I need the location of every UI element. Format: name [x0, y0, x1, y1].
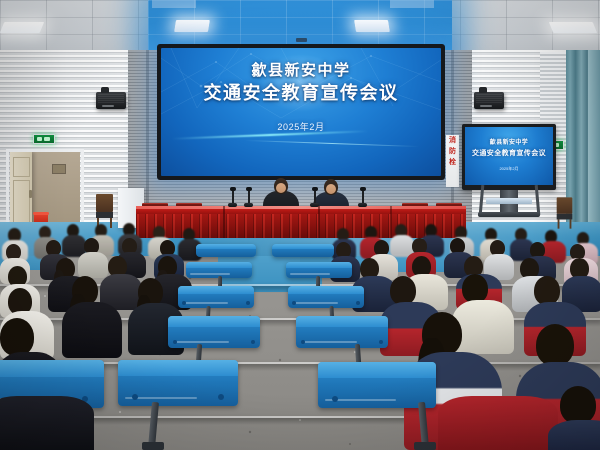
banner-char-1: 消: [446, 135, 459, 146]
student-desk: [178, 286, 254, 308]
desk-lip: [183, 302, 229, 304]
side-tv-line1: 歙县新安中学: [490, 137, 528, 146]
desk-bolt: [356, 301, 360, 305]
table-seam: [223, 206, 225, 238]
student-head: [534, 276, 560, 305]
ceiling-panel-light: [354, 20, 390, 32]
student-body: [0, 396, 94, 450]
student-head: [536, 324, 574, 366]
chair-leg: [570, 219, 572, 228]
led-title-line2: 交通安全教育宣传会议: [204, 83, 399, 105]
desk-bolt: [132, 394, 138, 400]
speaker-face: [276, 183, 286, 193]
speaker-head: [324, 179, 338, 195]
desk-bolt: [292, 301, 296, 305]
student-body: [78, 252, 108, 278]
chair-back: [96, 194, 113, 212]
side-tv-text-block: 歙县新安中学 交通安全教育宣传会议 2025年2月: [465, 127, 553, 185]
desk-surface: [118, 360, 238, 376]
led-date: 2025年2月: [277, 120, 324, 133]
desk-lip: [290, 273, 330, 275]
table-seam: [318, 206, 320, 238]
speaker-mesh: [98, 94, 124, 104]
ceiling-light-reflection-left: [152, 0, 196, 8]
microphone-base: [244, 203, 253, 207]
student-body: [548, 420, 600, 450]
student-body: [62, 302, 122, 358]
student-desk: [296, 316, 388, 348]
desk-surface: [178, 286, 254, 294]
desk-bolt: [246, 301, 250, 305]
desk-lip: [174, 341, 229, 343]
banner-char-2: 防: [446, 146, 459, 157]
speaker-mesh: [476, 94, 502, 104]
led-text-block: 歙县新安中学 交通安全教育宣传会议 2025年2月: [161, 48, 441, 176]
side-tv-date: 2025年2月: [499, 166, 518, 172]
curtain-right-fold: [588, 50, 600, 230]
wooden-chair: [96, 194, 113, 228]
student-desk: [118, 360, 238, 406]
desk-surface: [0, 360, 104, 377]
side-tv-monitor: 歙县新安中学 交通安全教育宣传会议 2025年2月: [462, 124, 556, 190]
emergency-exit-sign-left: [33, 134, 55, 144]
fire-hydrant-banner: 消 防 栓: [446, 135, 459, 187]
ceiling-vent: [296, 38, 307, 42]
desk-foot: [414, 442, 436, 450]
led-screen-surface: 歙县新安中学 交通安全教育宣传会议 2025年2月: [161, 48, 441, 176]
chair-back: [557, 197, 573, 214]
student-desk: [196, 244, 256, 257]
desk-bolt: [332, 396, 338, 402]
desk-bolt: [173, 340, 177, 344]
desk-surface: [272, 244, 334, 249]
wall-speaker-left: [96, 92, 126, 109]
desk-lip: [302, 341, 357, 343]
speaker-head: [274, 178, 288, 194]
desk-surface: [168, 316, 260, 327]
desk-bolt: [182, 301, 186, 305]
ceiling-panel-light: [549, 22, 597, 33]
chair-leg: [110, 218, 112, 228]
wooden-chair: [557, 197, 573, 228]
side-tv-line2: 交通安全教育宣传会议: [472, 148, 546, 158]
desk-lip: [190, 273, 230, 275]
desk-surface: [296, 316, 388, 327]
student-desk: [318, 362, 436, 408]
wall-speaker-right: [474, 92, 504, 109]
microphone-base: [228, 203, 237, 207]
student-body: [452, 300, 514, 354]
microphone-base: [358, 203, 367, 207]
stage-table-highlight: [136, 206, 466, 209]
desk-bolt: [301, 340, 305, 344]
tv-cart-base: [478, 212, 540, 217]
table-seam: [390, 206, 392, 238]
tv-cart-shelf: [486, 198, 532, 204]
led-screen: 歙县新安中学 交通安全教育宣传会议 2025年2月: [157, 44, 445, 180]
student-head: [560, 386, 596, 424]
desk-foot: [142, 442, 164, 450]
student-desk: [168, 316, 260, 348]
speaker-face: [326, 184, 336, 194]
desk-surface: [318, 362, 436, 378]
student-body: [438, 396, 558, 450]
chair-leg: [558, 219, 560, 228]
led-title-line1: 歙县新安中学: [251, 62, 350, 80]
student-head: [0, 318, 34, 356]
student-head: [390, 276, 416, 305]
student-desk: [288, 286, 364, 308]
ceiling-panel-light: [174, 20, 210, 32]
desk-surface: [186, 262, 252, 268]
desk-bolt: [379, 340, 383, 344]
auditorium-photo: 歙县新安中学 交通安全教育宣传会议 2025年2月 消 防 栓 歙县新安中学: [0, 0, 600, 450]
student-head: [462, 274, 488, 303]
desk-bolt: [218, 394, 224, 400]
desk-lip: [293, 302, 339, 304]
ceiling-panel-light: [0, 22, 44, 33]
desk-surface: [196, 244, 256, 249]
desk-surface: [288, 286, 364, 294]
side-tv-surface: 歙县新安中学 交通安全教育宣传会议 2025年2月: [465, 127, 553, 185]
desk-bolt: [251, 340, 255, 344]
speaker-badge: [102, 105, 114, 107]
ceiling-light-reflection-right: [390, 0, 434, 8]
student-desk: [272, 244, 334, 257]
desk-surface: [286, 262, 352, 268]
banner-char-3: 栓: [446, 157, 459, 168]
speaker-badge: [480, 105, 492, 107]
